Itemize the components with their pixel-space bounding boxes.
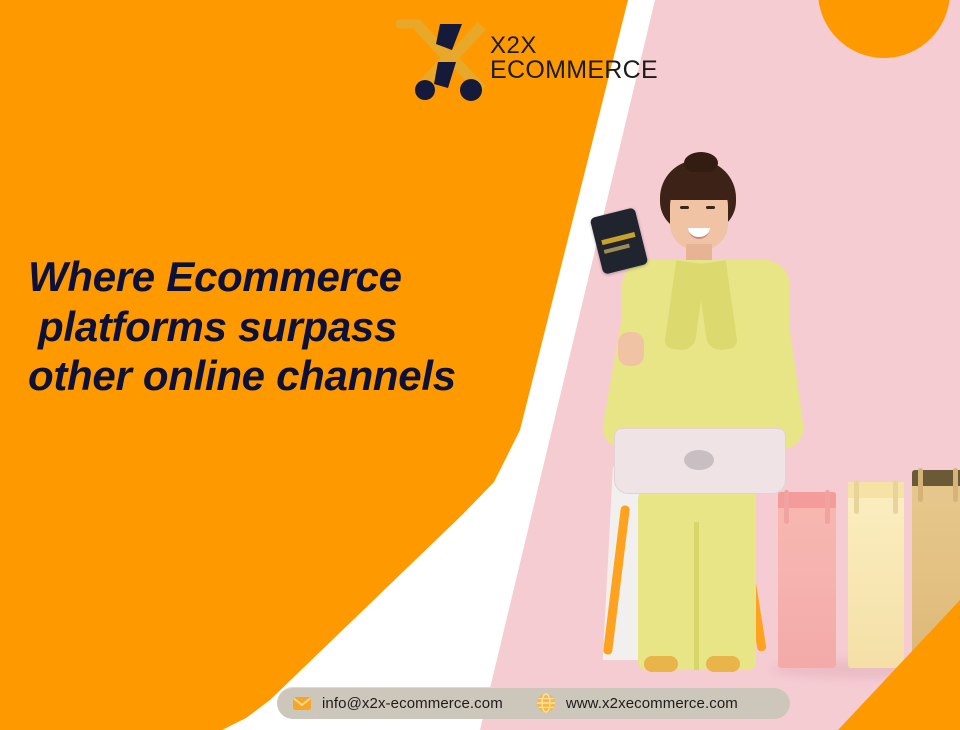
- bag-handle: [848, 480, 904, 510]
- brand-name-secondary: ECOMMERCE: [490, 58, 658, 83]
- woman-hand: [618, 332, 644, 366]
- bag-handle: [778, 490, 836, 520]
- trouser-crease: [694, 522, 699, 670]
- brand-logo: X2X ECOMMERCE: [396, 12, 611, 104]
- woman-eye: [706, 206, 715, 209]
- headline: Where Ecommerce platforms surpass other …: [22, 252, 502, 401]
- brand-name-primary: X2X: [490, 34, 658, 58]
- woman-hair-fringe: [664, 172, 734, 200]
- shopping-cart-x-icon: [396, 14, 488, 102]
- headline-line-3: other online channels: [22, 351, 502, 401]
- headline-line-2: platforms surpass: [22, 302, 502, 352]
- envelope-icon: [291, 692, 313, 714]
- shoe: [644, 656, 678, 672]
- woman-eye: [680, 206, 689, 209]
- poster-canvas: X2X ECOMMERCE Where Ecommerce platforms …: [0, 0, 960, 730]
- contact-email[interactable]: info@x2x-ecommerce.com: [291, 687, 503, 719]
- contact-website-text: www.x2xecommerce.com: [566, 695, 738, 712]
- shoe: [706, 656, 740, 672]
- brand-logo-text: X2X ECOMMERCE: [490, 34, 658, 83]
- shopping-bag-cream: [848, 482, 904, 668]
- headline-line-1: Where Ecommerce: [22, 252, 502, 302]
- globe-icon: [535, 692, 557, 714]
- credit-card: [590, 207, 649, 274]
- contact-website[interactable]: www.x2xecommerce.com: [535, 687, 738, 719]
- shopping-bag-pink: [778, 492, 836, 668]
- bag-handle: [912, 468, 960, 498]
- woman-hair-bun: [684, 152, 718, 174]
- contact-bar: info@x2x-ecommerce.com www.x2xecommerce.…: [277, 687, 790, 719]
- contact-email-text: info@x2x-ecommerce.com: [322, 695, 503, 712]
- laptop-lid-logo: [684, 450, 714, 470]
